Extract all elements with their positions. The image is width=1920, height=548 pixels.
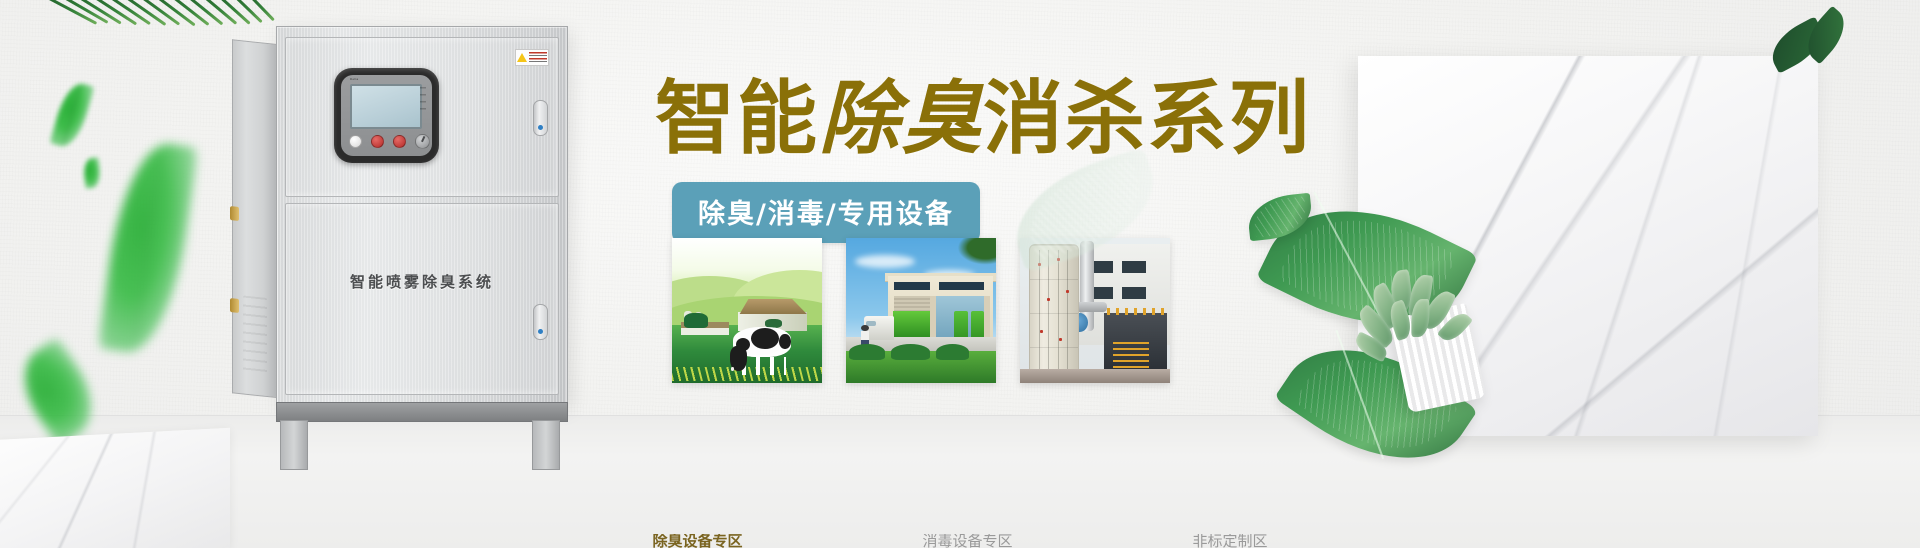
cabinet-front: Delta 智能喷雾除臭系统 <box>276 26 568 404</box>
cabinet-side-panel <box>232 39 277 398</box>
upper-door-handle[interactable] <box>533 100 548 136</box>
cabinet-leg-right <box>532 420 560 470</box>
hmi-brand-label: Delta <box>350 77 359 81</box>
marble-shelf-left <box>0 428 230 548</box>
deodorizing-machine: Delta 智能喷雾除臭系统 <box>232 26 582 446</box>
decor-leaf-tiny <box>82 157 101 189</box>
indicator-light-icon[interactable] <box>349 135 362 148</box>
headline-part-1: 智能 <box>655 72 819 165</box>
warning-triangle-icon <box>517 53 527 62</box>
thumbnail-row <box>672 238 1170 383</box>
headline-title: 智能除臭消杀系列 <box>655 78 1335 159</box>
thumbnail-farm-pasture-cow[interactable] <box>672 238 822 383</box>
decor-leaf-small <box>49 79 94 150</box>
cabinet-lower-door <box>285 203 559 395</box>
cabinet-upper-door: Delta <box>285 37 559 197</box>
cabinet-leg-left <box>280 420 308 470</box>
warning-text-lines <box>529 52 547 64</box>
hmi-touchscreen[interactable] <box>350 84 422 129</box>
lower-door-handle[interactable] <box>533 304 548 340</box>
product-banner: Delta 智能喷雾除臭系统 <box>0 0 1920 548</box>
banana-leaf-small <box>1246 193 1314 241</box>
panel-button-row[interactable] <box>349 134 430 149</box>
bottom-caption-1[interactable]: 除臭设备专区 <box>652 534 742 548</box>
bottom-caption-2[interactable]: 消毒设备专区 <box>922 534 1012 548</box>
thumbnail-truck-fueling-station[interactable] <box>846 238 996 383</box>
cabinet-vents <box>243 295 267 378</box>
cabinet-base <box>276 402 568 422</box>
bottom-caption-row: 除臭设备专区 消毒设备专区 非标定制区 <box>0 534 1920 548</box>
hmi-control-panel[interactable]: Delta <box>334 68 439 163</box>
hmi-side-keys[interactable] <box>420 87 426 113</box>
decor-leaf-large <box>98 138 199 358</box>
cow-illustration <box>729 322 795 374</box>
headline-part-3: 消杀系列 <box>983 72 1311 165</box>
palm-frond-left-edge <box>0 78 72 328</box>
cabinet-label: 智能喷雾除臭系统 <box>277 271 567 292</box>
cabinet-latch-upper <box>230 206 239 221</box>
emergency-stop-button[interactable] <box>393 135 406 148</box>
headline-part-2: 除臭 <box>819 71 983 165</box>
subtitle-badge: 除臭/消毒/专用设备 <box>672 182 980 243</box>
bottom-caption-3[interactable]: 非标定制区 <box>1193 534 1268 548</box>
cabinet-latch-lower <box>230 298 239 313</box>
selector-knob-icon[interactable] <box>415 134 430 149</box>
emergency-stop-button[interactable] <box>371 135 384 148</box>
warning-label <box>515 49 549 66</box>
